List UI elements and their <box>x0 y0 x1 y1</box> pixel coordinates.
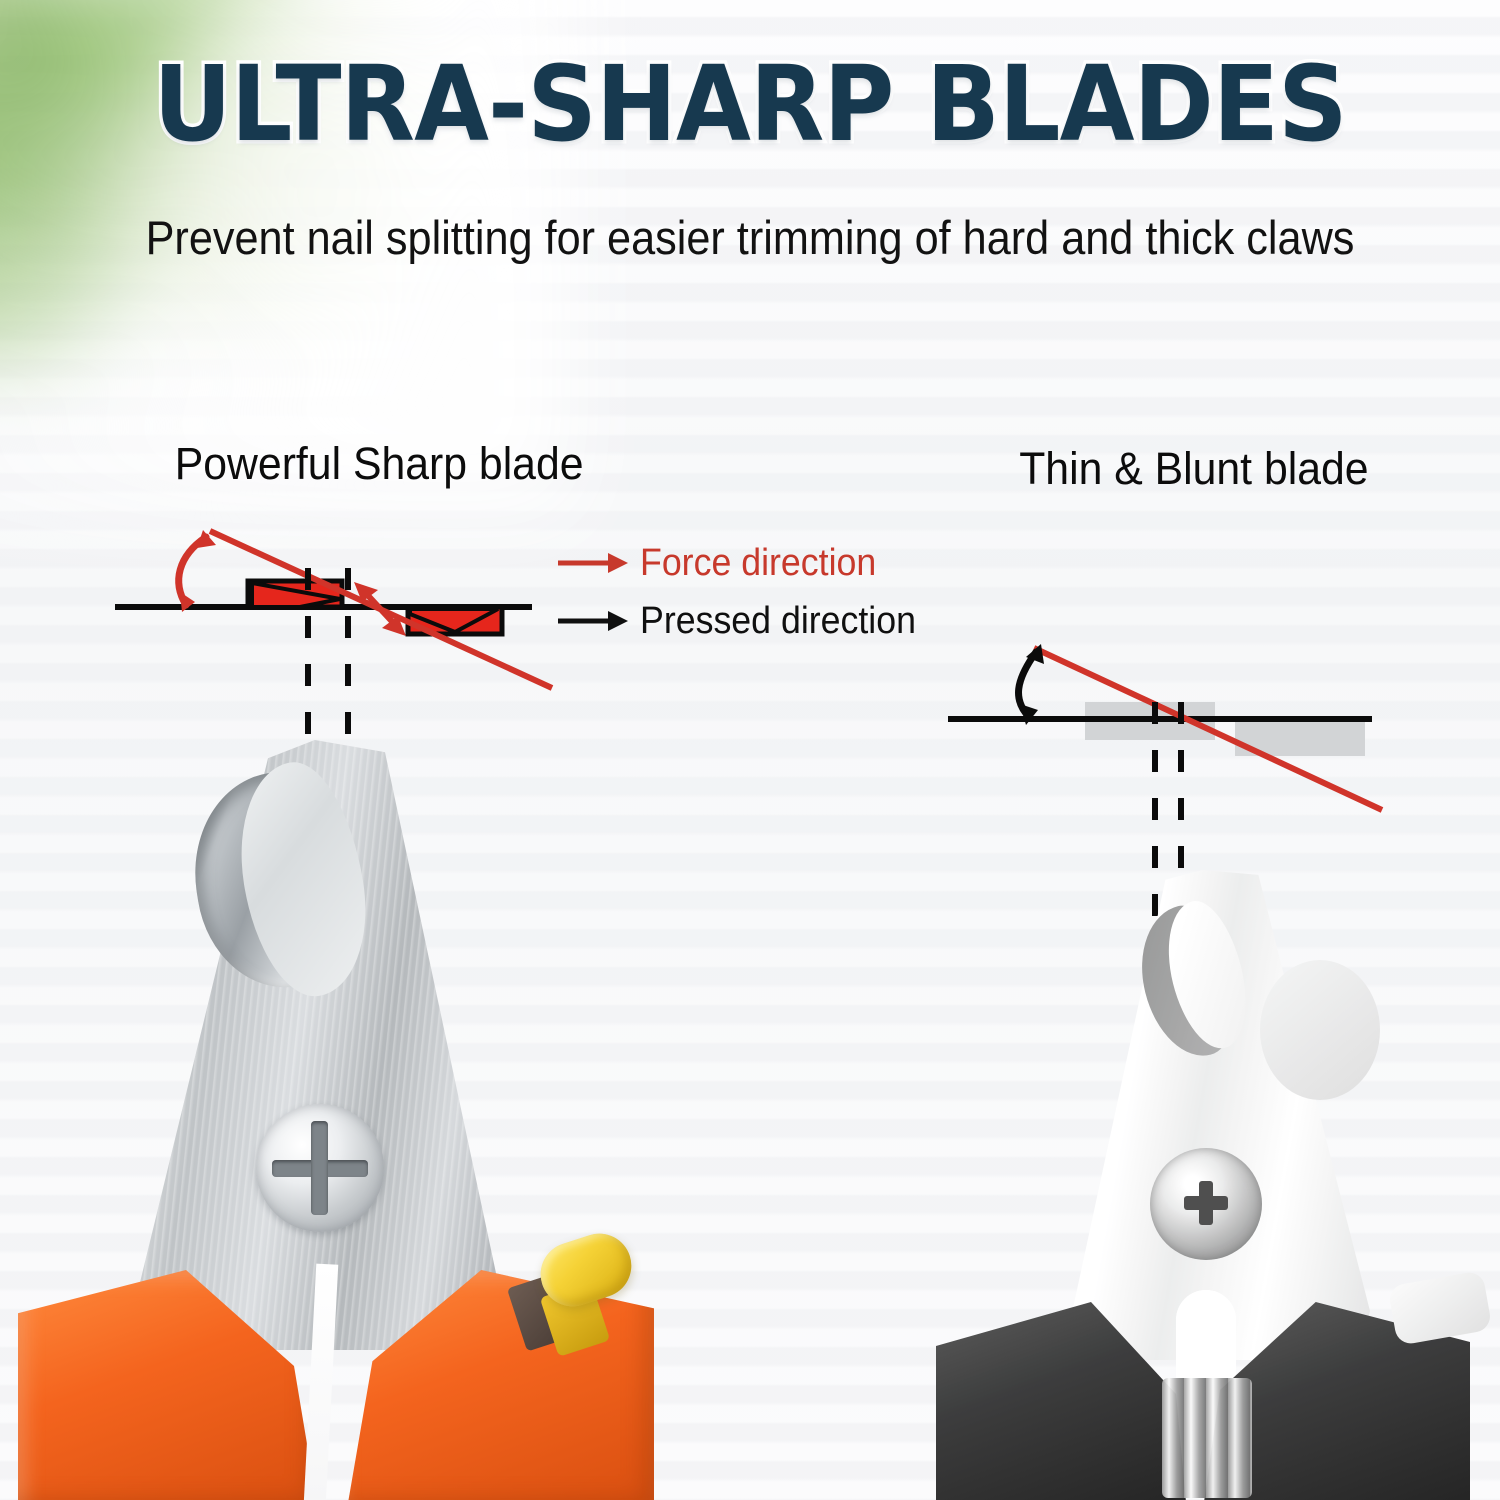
lower-red-wedge <box>408 607 502 634</box>
page-subtitle: Prevent nail splitting for easier trimmi… <box>60 213 1440 262</box>
page-title: ULTRA-SHARP BLADES <box>53 52 1448 156</box>
sharp-blade-clipper-photo <box>0 740 700 1500</box>
pivot-screw <box>256 1104 384 1232</box>
legend-item-pressed: Pressed direction <box>556 598 934 644</box>
legend: Force direction Pressed direction <box>556 540 934 656</box>
pivot-screw <box>1150 1148 1262 1260</box>
left-blade-line <box>210 531 552 688</box>
right-blade-line <box>1034 648 1382 810</box>
lower-gray-block <box>1235 718 1365 756</box>
right-panel-caption: Thin & Blunt blade <box>1019 443 1368 495</box>
blade-ear <box>1260 960 1380 1100</box>
left-shear-arrow-icon <box>354 582 406 636</box>
right-arrow-icon <box>556 606 630 636</box>
legend-label-pressed: Pressed direction <box>640 600 916 643</box>
left-panel-caption: Powerful Sharp blade <box>175 438 584 490</box>
left-angle-arc-icon <box>179 530 216 612</box>
right-angle-arc-icon <box>1019 644 1044 725</box>
upper-red-wedge <box>248 581 342 607</box>
upper-gray-block <box>1085 702 1215 740</box>
legend-item-force: Force direction <box>556 540 934 586</box>
spring <box>1162 1378 1252 1498</box>
handle-grip-tip <box>1388 1270 1493 1346</box>
right-arrow-icon <box>556 548 630 578</box>
blunt-blade-clipper-photo <box>900 870 1500 1500</box>
legend-label-force: Force direction <box>640 542 876 585</box>
infographic-page: ULTRA-SHARP BLADES Prevent nail splittin… <box>0 0 1500 1500</box>
